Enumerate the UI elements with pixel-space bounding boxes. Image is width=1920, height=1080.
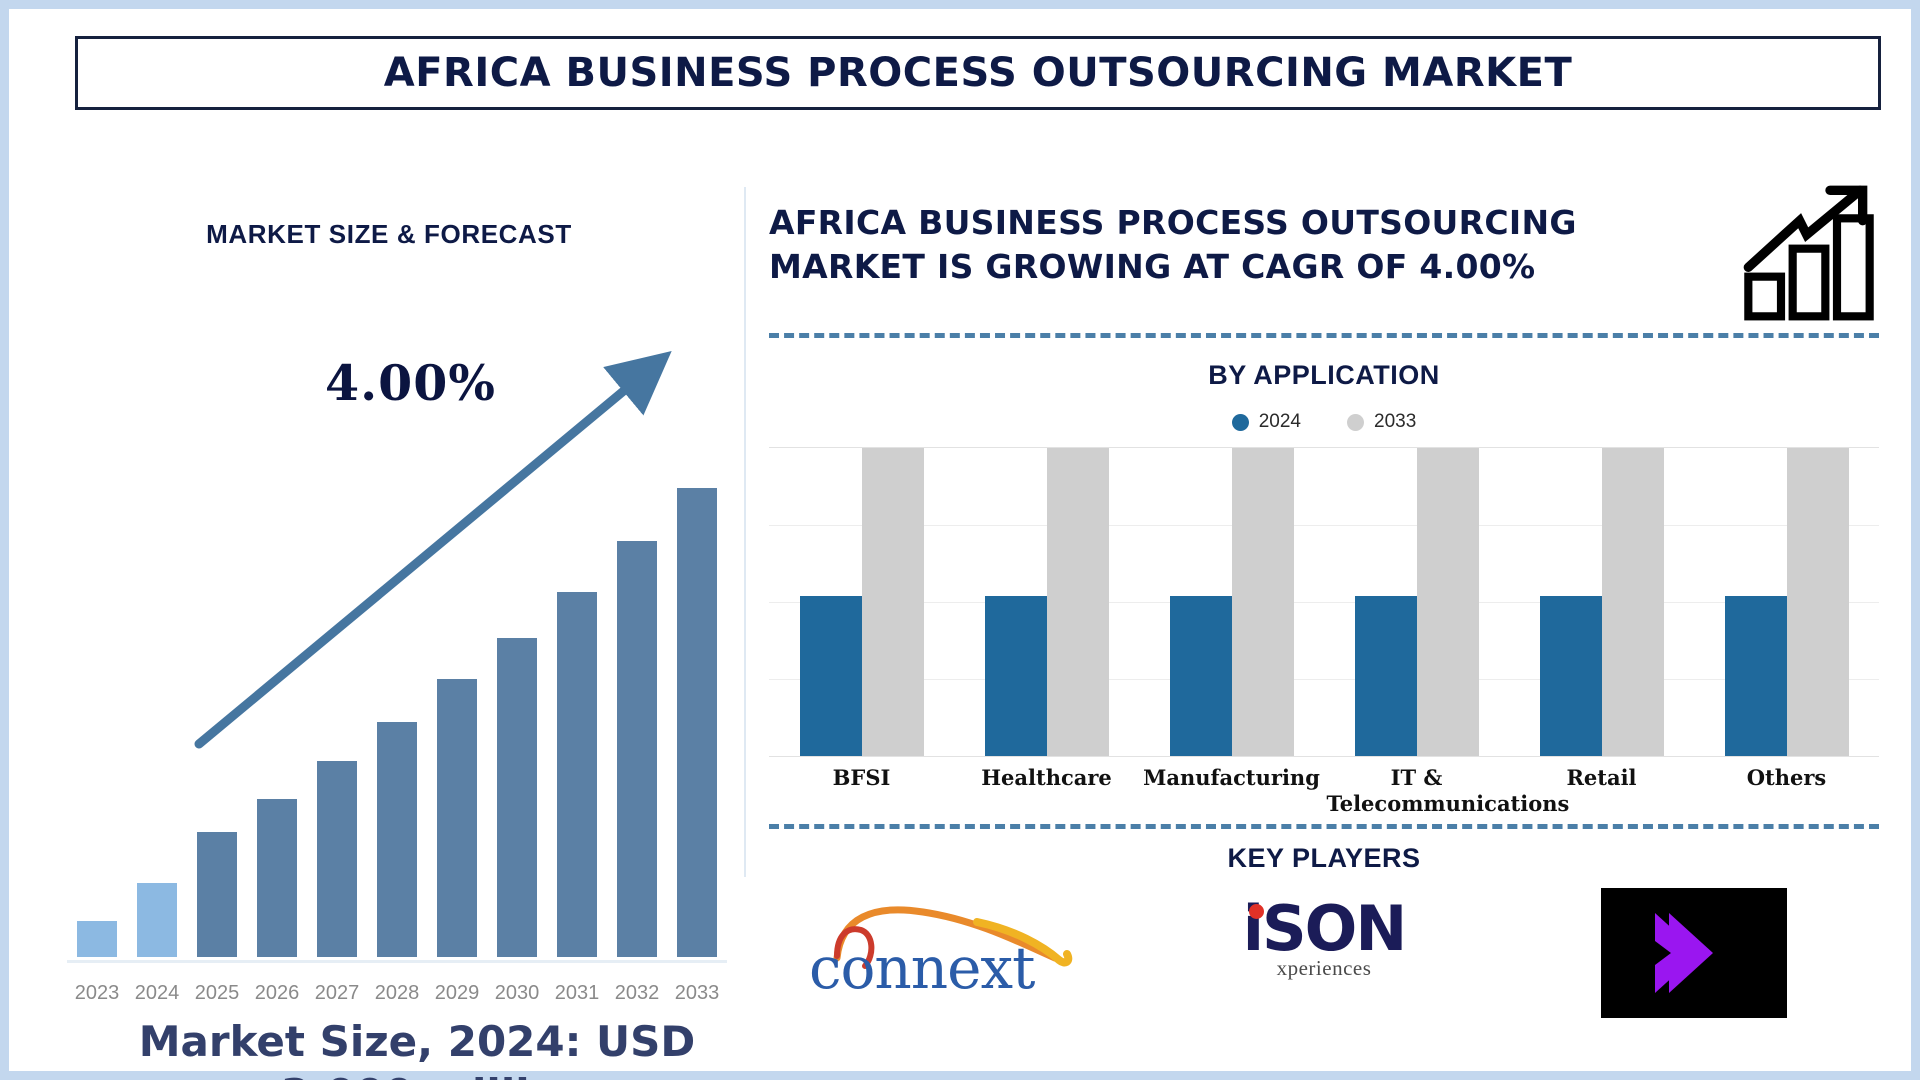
legend-item-2033: 2033 [1347,411,1416,433]
logo-slot-accenture [1544,888,1844,1018]
x-tick-2029: 2029 [433,982,481,1005]
bar-2031 [555,447,599,957]
x-tick-2024: 2024 [133,982,181,1005]
ison-logo: iSON xperiences [1209,898,1439,1008]
bar-manufacturing-2033 [1232,448,1294,756]
accenture-logo [1601,888,1787,1018]
bar-2028 [375,447,419,957]
legend-label-2033: 2033 [1374,411,1416,433]
bar-2030 [495,447,539,957]
key-players-logos: connext iSON xperiences [769,888,1879,1018]
x-tick-2028: 2028 [373,982,421,1005]
x-tick-2025: 2025 [193,982,241,1005]
x-tick-2026: 2026 [253,982,301,1005]
dashed-divider-bottom [769,824,1879,829]
cagr-annotation-label: 4.00% [325,354,496,412]
category-label-others: Others [1697,765,1877,818]
market-size-line-1: Market Size, 2024: USD [87,1016,747,1069]
category-label-it-telecom: IT & Telecommunications [1327,765,1507,818]
connext-logo: connext [809,898,1099,1008]
bar-healthcare-2033 [1047,448,1109,756]
x-tick-2032: 2032 [613,982,661,1005]
bar-it-telecom-2033 [1417,448,1479,756]
bar-manufacturing-2024 [1170,596,1232,756]
right-header: AFRICA BUSINESS PROCESS OUTSOURCING MARK… [769,199,1879,321]
bar-bfsi-2024 [800,596,862,756]
group-manufacturing [1148,448,1316,756]
bar-chart-up-arrow-icon [1739,181,1879,321]
x-tick-2033: 2033 [673,982,721,1005]
bar-2026 [255,447,299,957]
bar-2027 [315,447,359,957]
bar-it-telecom-2024 [1355,596,1417,756]
category-label-manufacturing: Manufacturing [1142,765,1322,818]
bar-2025 [195,447,239,957]
grouped-bars [769,448,1879,756]
legend-item-2024: 2024 [1232,411,1301,433]
category-label-retail: Retail [1512,765,1692,818]
logo-slot-connext: connext [804,888,1104,1018]
bar-others-2033 [1787,448,1849,756]
bar-2024 [135,447,179,957]
infographic-page: AFRICA BUSINESS PROCESS OUTSOURCING MARK… [0,0,1920,1080]
category-label-healthcare: Healthcare [957,765,1137,818]
ison-wordmark: iSON [1243,898,1406,960]
legend-dot-2024 [1232,414,1249,431]
bar-2033 [675,447,719,957]
dashed-divider-top [769,333,1879,338]
by-application-chart [769,447,1879,757]
x-tick-2023: 2023 [73,982,121,1005]
bar-retail-2024 [1540,596,1602,756]
vertical-divider [744,187,746,877]
group-healthcare [963,448,1131,756]
market-size-note: Market Size, 2024: USD ~3,000 million [87,1016,747,1080]
chevron-right-icon [1639,903,1749,1003]
x-axis-tick-labels: 2023 2024 2025 2026 2027 2028 2029 2030 … [67,982,727,1005]
bar-2029 [435,447,479,957]
by-application-title: BY APPLICATION [769,360,1879,391]
x-tick-2030: 2030 [493,982,541,1005]
title-banner: AFRICA BUSINESS PROCESS OUTSOURCING MARK… [75,36,1881,110]
category-label-bfsi: BFSI [772,765,952,818]
by-application-category-labels: BFSI Healthcare Manufacturing IT & Telec… [769,765,1879,818]
ison-dot-icon [1249,904,1264,919]
bar-2023 [75,447,119,957]
market-size-forecast-title: MARKET SIZE & FORECAST [39,219,739,250]
connext-wordmark: connext [809,934,1034,1002]
group-it-telecom [1333,448,1501,756]
x-axis-line [67,960,727,963]
x-tick-2031: 2031 [553,982,601,1005]
market-size-forecast-chart: 2023 2024 2025 2026 2027 2028 2029 2030 … [67,444,727,1049]
legend-dot-2033 [1347,414,1364,431]
market-size-line-2: ~3,000 million [87,1069,747,1080]
page-title: AFRICA BUSINESS PROCESS OUTSOURCING MARK… [384,50,1572,96]
bar-others-2024 [1725,596,1787,756]
group-retail [1518,448,1686,756]
legend-label-2024: 2024 [1259,411,1301,433]
group-bfsi [778,448,946,756]
bar-healthcare-2024 [985,596,1047,756]
market-size-bars [67,447,727,957]
group-others [1703,448,1871,756]
x-tick-2027: 2027 [313,982,361,1005]
growth-headline: AFRICA BUSINESS PROCESS OUTSOURCING MARK… [769,199,1669,289]
chart-legend: 2024 2033 [769,411,1879,433]
key-players-title: KEY PLAYERS [769,843,1879,874]
left-panel: MARKET SIZE & FORECAST 4.00% [39,189,739,1069]
logo-slot-ison: iSON xperiences [1174,888,1474,1018]
bar-2032 [615,447,659,957]
bar-bfsi-2033 [862,448,924,756]
bar-retail-2033 [1602,448,1664,756]
right-panel: AFRICA BUSINESS PROCESS OUTSOURCING MARK… [769,199,1879,1069]
